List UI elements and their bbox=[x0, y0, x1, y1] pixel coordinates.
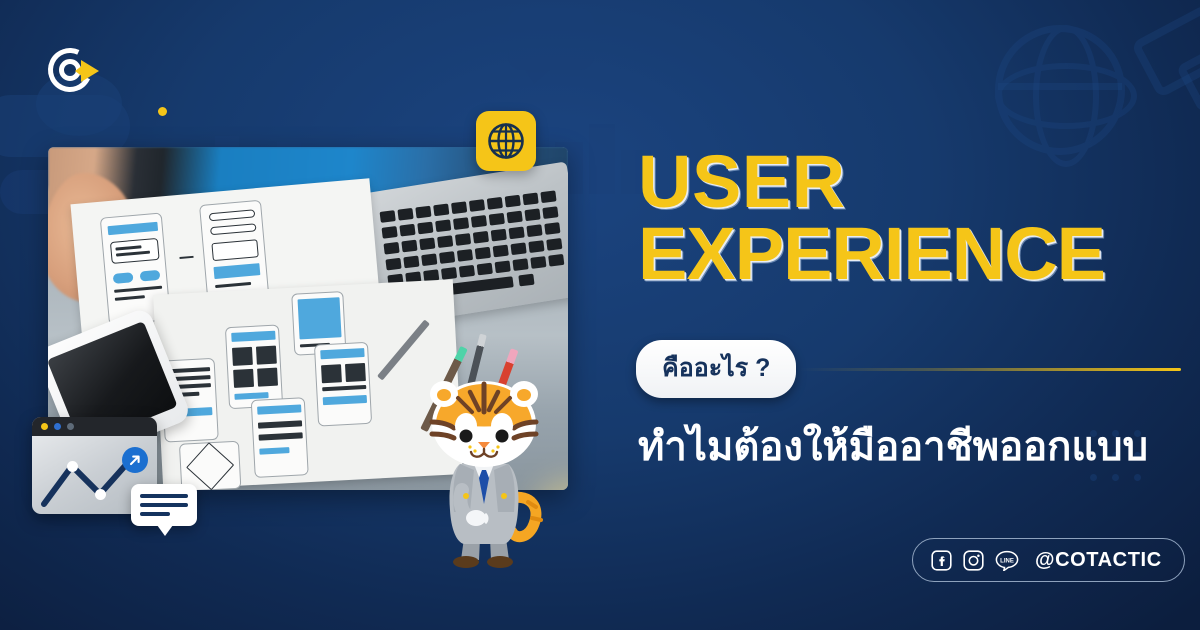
globe-watermark-equator bbox=[998, 83, 1122, 90]
svg-text:LINE: LINE bbox=[1000, 558, 1014, 564]
photo-wireframe-paper-2 bbox=[153, 279, 463, 489]
cotactic-logo[interactable] bbox=[48, 48, 100, 94]
globe-icon bbox=[486, 121, 526, 161]
comment-bubble-icon[interactable] bbox=[131, 484, 197, 526]
bubble-line bbox=[140, 503, 188, 507]
page-subtitle: ทำไมต้องให้มืออาชีพออกแบบ bbox=[638, 424, 1183, 470]
facebook-icon[interactable] bbox=[931, 550, 952, 571]
photo-wireframe-sketch bbox=[314, 342, 372, 427]
photo-wireframe-sketch bbox=[225, 324, 283, 409]
subtitle-badge-row: คืออะไร ? bbox=[636, 343, 1181, 395]
banner-canvas: USER EXPERIENCE คืออะไร ? ทำไมต้องให้มือ… bbox=[0, 0, 1200, 630]
social-handle-text: @COTACTIC bbox=[1035, 549, 1162, 572]
decorative-dot bbox=[158, 107, 167, 116]
headline-line-2: EXPERIENCE bbox=[638, 218, 1178, 290]
logo-arrow-icon bbox=[81, 60, 99, 82]
window-dot-yellow bbox=[41, 423, 48, 430]
photo-wireframe-sketch bbox=[251, 397, 309, 478]
bubble-line bbox=[140, 512, 170, 516]
line-icon[interactable]: LINE bbox=[995, 550, 1019, 571]
instagram-icon[interactable] bbox=[963, 550, 984, 571]
window-dot-blue bbox=[54, 423, 61, 430]
globe-badge[interactable] bbox=[476, 111, 536, 171]
bubble-line bbox=[140, 494, 188, 498]
headline-line-1: USER bbox=[638, 140, 846, 223]
page-title: USER EXPERIENCE bbox=[638, 146, 1178, 290]
question-badge: คืออะไร ? bbox=[636, 340, 796, 398]
window-title-bar bbox=[32, 417, 157, 436]
accent-rule bbox=[800, 368, 1181, 371]
window-dot-gray bbox=[67, 423, 74, 430]
social-handle-bar[interactable]: LINE @COTACTIC bbox=[912, 538, 1185, 582]
chart-point bbox=[67, 461, 78, 472]
globe-watermark-icon bbox=[995, 25, 1125, 155]
tiger-mascot bbox=[424, 378, 544, 570]
chart-point bbox=[95, 489, 106, 500]
trend-arrow-up-icon bbox=[122, 447, 148, 473]
speech-bubble-watermark-icon bbox=[508, 8, 594, 70]
photo-wireframe-sketch bbox=[179, 441, 241, 490]
